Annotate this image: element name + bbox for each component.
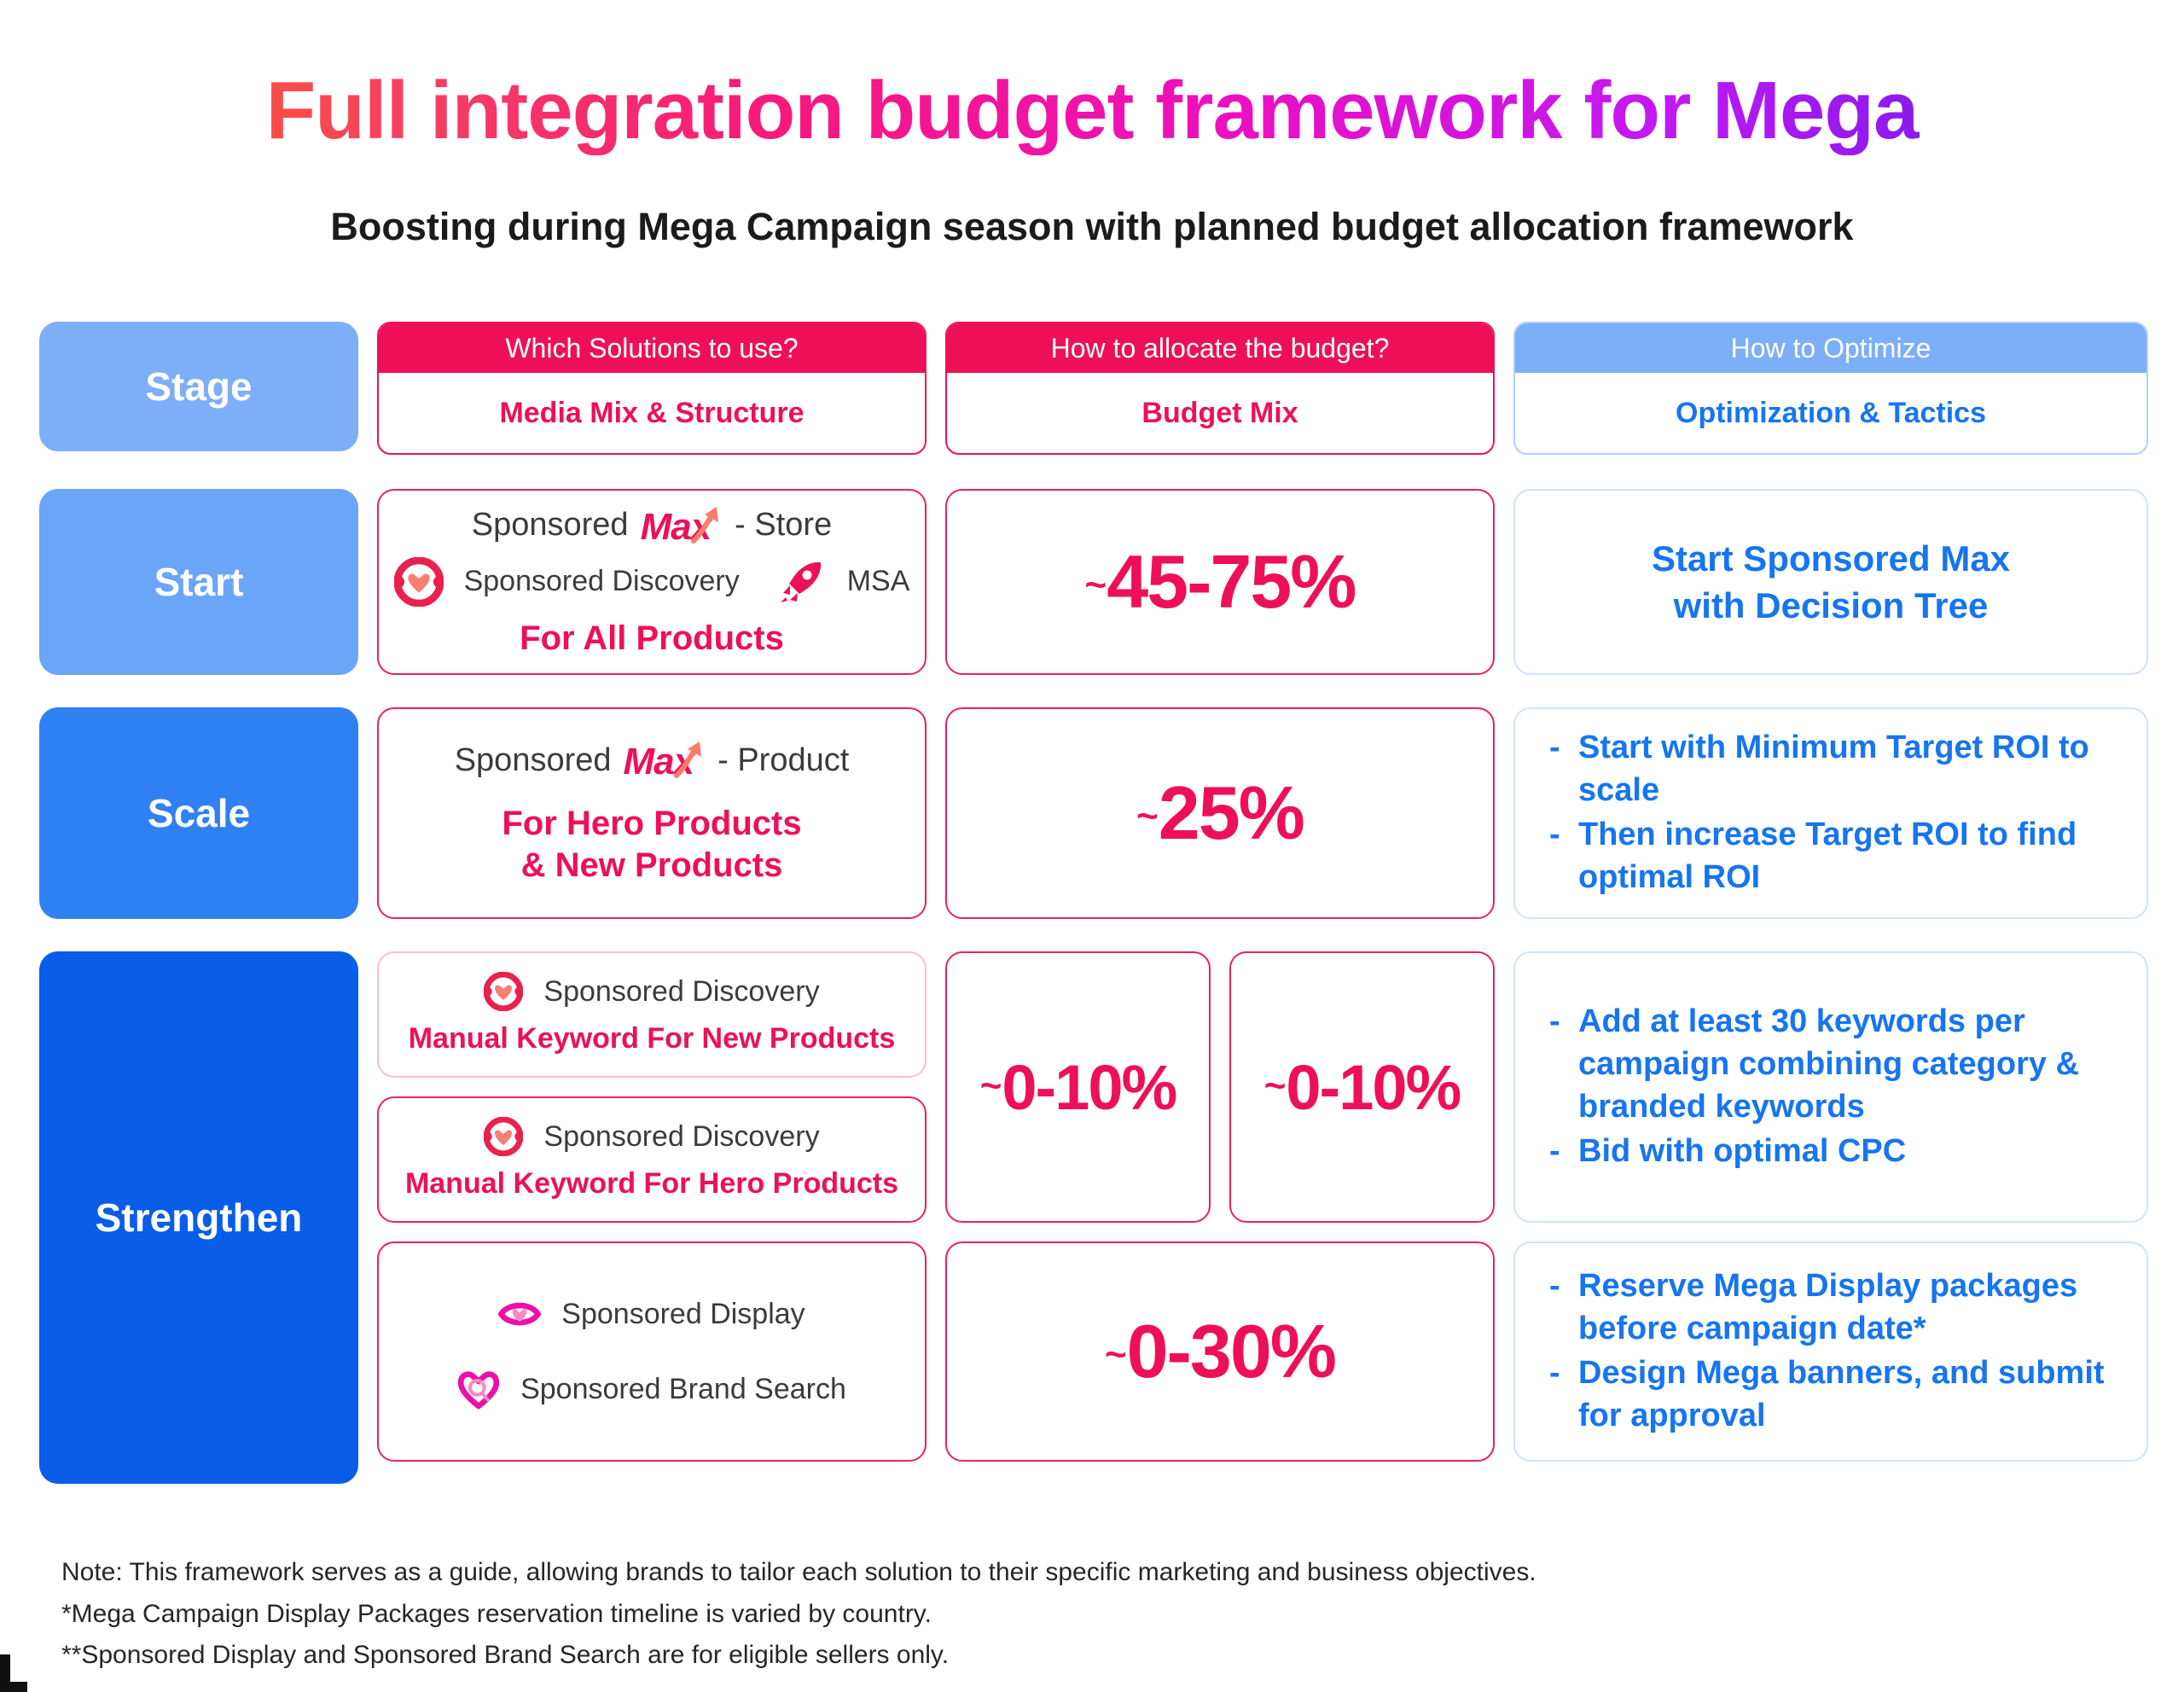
optimize-cell-start: Start Sponsored Max with Decision Tree	[1513, 489, 2148, 675]
budget-value-new: 0-10%	[1002, 1052, 1176, 1123]
page-subtitle: Boosting during Mega Campaign season wit…	[0, 205, 2184, 249]
bullet-dash: -	[1549, 813, 1565, 898]
budget-question: How to allocate the budget?	[947, 323, 1493, 373]
note-line-3: **Sponsored Display and Sponsored Brand …	[61, 1635, 2109, 1677]
note-line-1: Note: This framework serves as a guide, …	[61, 1552, 2109, 1594]
tilde-prefix: ~	[1084, 564, 1105, 606]
discovery-msa-line: Sponsored Discovery MSA	[394, 556, 910, 608]
bullet-text: Design Mega banners, and submit for appr…	[1578, 1352, 2112, 1437]
sponsored-discovery-icon	[484, 1117, 523, 1156]
bullet-text: Bid with optimal CPC	[1578, 1130, 1906, 1172]
budget-percentage-scale: ~25%	[1136, 770, 1304, 857]
budget-cell-start: ~45-75%	[945, 489, 1495, 675]
sponsored-max-logo: Max	[641, 505, 723, 546]
solutions-emphasis-start: For All Products	[520, 618, 784, 660]
discovery-new-products-card: Sponsored Discovery Manual Keyword For N…	[377, 951, 926, 1078]
tilde-prefix: ~	[1136, 795, 1157, 837]
bullet-item: - Add at least 30 keywords per campaign …	[1549, 1000, 2112, 1128]
solutions-column-header: Which Solutions to use? Media Mix & Stru…	[377, 322, 926, 455]
stage-header-label: Stage	[145, 363, 252, 410]
emphasis-line-1: For Hero Products	[502, 803, 801, 845]
budget-column-header: How to allocate the budget? Budget Mix	[945, 322, 1495, 455]
budget-cell-strengthen: ~0-10% ~0-10% ~0-30%	[945, 951, 1495, 1484]
sponsored-discovery-label: Sponsored Discovery	[543, 975, 819, 1009]
bullet-item: - Bid with optimal CPC	[1549, 1130, 2112, 1172]
solutions-header-card: Which Solutions to use? Media Mix & Stru…	[377, 322, 926, 455]
budget-percentage-hero: ~0-10%	[1264, 1051, 1461, 1124]
optimize-column-header: How to Optimize Optimization & Tactics	[1513, 322, 2148, 455]
discovery-new-line: Sponsored Discovery	[484, 972, 819, 1011]
corner-crop-mark	[0, 1654, 27, 1692]
sponsored-discovery-icon	[484, 972, 523, 1011]
product-suffix: - Product	[717, 742, 849, 779]
growth-arrow-icon	[671, 740, 706, 779]
optimize-cell-scale: - Start with Minimum Target ROI to scale…	[1513, 707, 2148, 919]
optimize-keywords-card: - Add at least 30 keywords per campaign …	[1513, 951, 2148, 1223]
bullet-text: Then increase Target ROI to find optimal…	[1578, 813, 2112, 898]
sponsored-prefix-scale: Sponsored	[455, 742, 612, 779]
manual-keyword-hero-emphasis: Manual Keyword For Hero Products	[405, 1166, 898, 1201]
stage-column-header: Stage	[39, 322, 358, 451]
sponsored-brand-search-label: Sponsored Brand Search	[520, 1373, 846, 1406]
msa-label: MSA	[847, 565, 910, 598]
sponsored-display-icon	[498, 1293, 541, 1335]
budget-cell-display: ~0-30%	[945, 1241, 1495, 1462]
budget-header-card: How to allocate the budget? Budget Mix	[945, 322, 1495, 455]
row-strengthen: Strengthen	[39, 951, 2160, 1484]
bullet-dash: -	[1549, 1352, 1565, 1437]
stage-label-start: Start	[39, 489, 358, 675]
discovery-hero-products-card: Sponsored Discovery Manual Keyword For H…	[377, 1096, 926, 1223]
rocket-icon	[775, 556, 827, 608]
note-line-2: *Mega Campaign Display Packages reservat…	[61, 1594, 2109, 1636]
bullet-dash: -	[1549, 726, 1565, 811]
bullet-item: - Design Mega banners, and submit for ap…	[1549, 1352, 2112, 1437]
solutions-answer: Media Mix & Structure	[379, 373, 925, 453]
solutions-cell-start: Sponsored Max - Store	[377, 489, 926, 675]
tilde-prefix: ~	[980, 1065, 1001, 1107]
tilde-prefix: ~	[1105, 1334, 1125, 1375]
sponsored-discovery-label: Sponsored Discovery	[543, 1120, 819, 1154]
sponsored-discovery-icon	[394, 557, 444, 607]
footer-notes: Note: This framework serves as a guide, …	[61, 1552, 2109, 1677]
budget-split-row: ~0-10% ~0-10%	[945, 951, 1495, 1223]
manual-keyword-new-emphasis: Manual Keyword For New Products	[409, 1021, 896, 1056]
budget-value: 45-75%	[1107, 539, 1355, 624]
header-row: Stage Which Solutions to use? Media Mix …	[39, 322, 2160, 455]
stage-scale-text: Scale	[148, 790, 250, 836]
page-title: Full integration budget framework for Me…	[0, 67, 2184, 155]
store-suffix: - Store	[735, 507, 832, 544]
optimize-bullets-scale: - Start with Minimum Target ROI to scale…	[1515, 726, 2146, 901]
optimize-answer: Optimization & Tactics	[1515, 373, 2146, 453]
sponsored-discovery-label: Sponsored Discovery	[464, 565, 740, 598]
optimize-text-start: Start Sponsored Max with Decision Tree	[1652, 535, 2010, 630]
budget-value-display: 0-30%	[1127, 1309, 1335, 1393]
optimize-line-2: with Decision Tree	[1652, 582, 2010, 629]
framework-grid: Stage Which Solutions to use? Media Mix …	[39, 322, 2160, 1503]
budget-value-scale: 25%	[1159, 770, 1304, 855]
budget-percentage-display: ~0-30%	[1105, 1308, 1335, 1395]
sponsored-max-store-line: Sponsored Max - Store	[472, 505, 832, 546]
stage-label-strengthen: Strengthen	[39, 951, 358, 1484]
solutions-question: Which Solutions to use?	[379, 323, 925, 373]
budget-value-hero: 0-10%	[1286, 1052, 1460, 1123]
optimize-header-card: How to Optimize Optimization & Tactics	[1513, 322, 2148, 455]
optimize-bullets-display: - Reserve Mega Display packages before c…	[1515, 1265, 2146, 1439]
bullet-text: Add at least 30 keywords per campaign co…	[1578, 1000, 2112, 1128]
bullet-dash: -	[1549, 1000, 1565, 1128]
discovery-hero-line: Sponsored Discovery	[484, 1117, 819, 1156]
bullet-text: Reserve Mega Display packages before cam…	[1578, 1265, 2112, 1350]
optimize-cell-strengthen: - Add at least 30 keywords per campaign …	[1513, 951, 2148, 1484]
solutions-cell-strengthen: Sponsored Discovery Manual Keyword For N…	[377, 951, 926, 1484]
stage-start-text: Start	[154, 559, 244, 605]
sponsored-display-label: Sponsored Display	[561, 1298, 804, 1331]
bullet-dash: -	[1549, 1130, 1565, 1172]
sponsored-prefix: Sponsored	[472, 507, 629, 544]
optimize-question: How to Optimize	[1515, 323, 2146, 373]
row-start: Start Sponsored Max - Store	[39, 489, 2160, 675]
bullet-dash: -	[1549, 1265, 1565, 1350]
solutions-cell-scale: Sponsored Max - Product For Hero Product…	[377, 707, 926, 919]
budget-percentage-new: ~0-10%	[980, 1051, 1176, 1124]
optimize-line-1: Start Sponsored Max	[1652, 535, 2010, 582]
sponsored-max-logo-scale: Max	[624, 740, 706, 781]
bullet-text: Start with Minimum Target ROI to scale	[1578, 726, 2112, 811]
budget-cell-scale: ~25%	[945, 707, 1495, 919]
optimize-display-card: - Reserve Mega Display packages before c…	[1513, 1241, 2148, 1462]
stage-label-scale: Scale	[39, 707, 358, 919]
bullet-item: - Reserve Mega Display packages before c…	[1549, 1265, 2112, 1350]
growth-arrow-icon	[688, 505, 723, 544]
sponsored-max-product-line: Sponsored Max - Product	[455, 740, 850, 781]
budget-answer: Budget Mix	[947, 373, 1493, 453]
optimize-bullets-keywords: - Add at least 30 keywords per campaign …	[1515, 1000, 2146, 1175]
budget-cell-keyword-hero: ~0-10%	[1229, 951, 1495, 1223]
sponsored-brand-search-line: Sponsored Brand Search	[457, 1368, 846, 1410]
row-scale: Scale Sponsored Max - Product For Hero P…	[39, 707, 2160, 919]
bullet-item: - Then increase Target ROI to find optim…	[1549, 813, 2112, 898]
solutions-emphasis-scale: For Hero Products & New Products	[502, 803, 801, 887]
sponsored-brand-search-icon	[457, 1368, 500, 1410]
stage-strengthen-text: Strengthen	[96, 1195, 303, 1241]
bullet-item: - Start with Minimum Target ROI to scale	[1549, 726, 2112, 811]
tilde-prefix: ~	[1264, 1065, 1285, 1107]
display-brandsearch-card: Sponsored Display Sponsored Brand Search	[377, 1241, 926, 1462]
budget-percentage-start: ~45-75%	[1084, 538, 1355, 625]
budget-cell-keyword-new: ~0-10%	[945, 951, 1211, 1223]
emphasis-line-2: & New Products	[502, 845, 801, 887]
sponsored-display-line: Sponsored Display	[498, 1293, 804, 1335]
